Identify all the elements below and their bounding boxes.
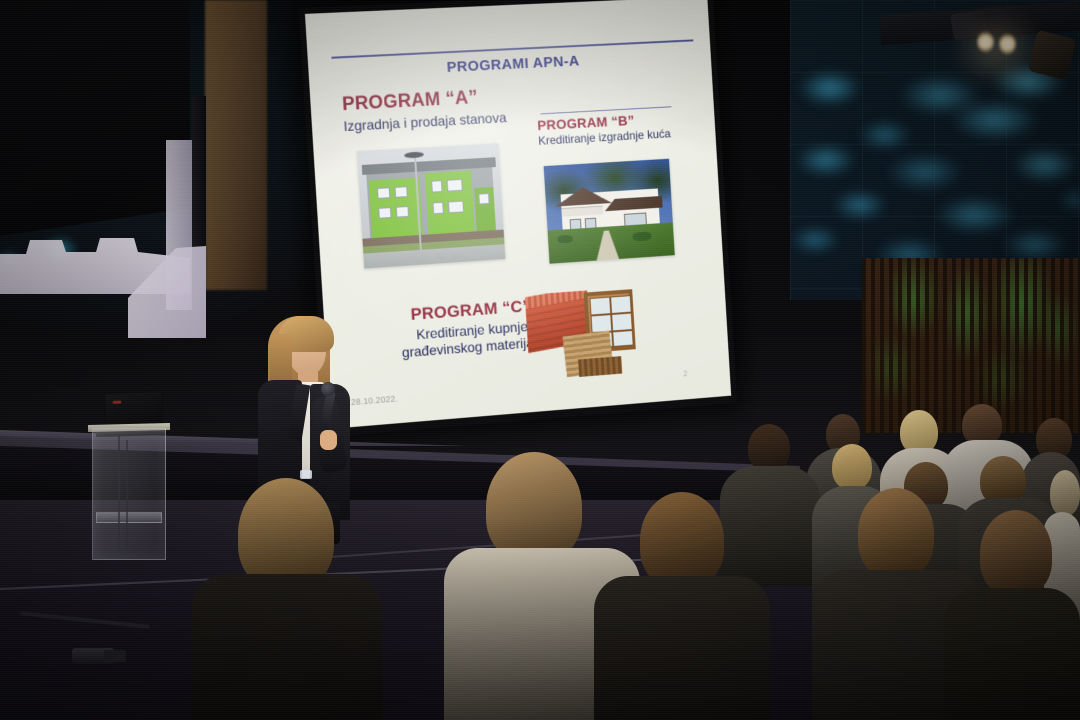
photo-window (447, 179, 463, 192)
program-block-b: PROGRAM “B” Kreditiranje izgradnje kuća (537, 110, 671, 148)
audience-head (858, 488, 934, 578)
audience-body (720, 466, 820, 586)
photo-window-pane (610, 295, 632, 314)
spotlight-icon (999, 33, 1016, 55)
audience-body (192, 574, 382, 720)
left-dark-screen (0, 0, 190, 236)
photo-window (396, 206, 409, 218)
cable (118, 436, 120, 548)
photo-window (377, 187, 390, 199)
presentation-slide: PROGRAMI APN-A PROGRAM “A” Izgradnja i p… (305, 0, 731, 429)
photo-window (433, 202, 444, 215)
photo-window (378, 207, 391, 219)
spotlight-icon (977, 31, 994, 53)
brick-window-lumber-photo (525, 287, 643, 385)
slide-title: PROGRAMI APN-A (308, 46, 711, 83)
conference-photo-scene: PROGRAMI APN-A PROGRAM “A” Izgradnja i p… (0, 0, 1080, 720)
photo-window (448, 201, 464, 214)
floor-equipment-box (104, 650, 126, 662)
audience-body (594, 576, 770, 720)
audience-head (1050, 470, 1080, 516)
audience-head (486, 452, 582, 562)
green-apartment-building-photo (357, 143, 505, 268)
laptop-logo-icon (113, 401, 122, 404)
microphone-head-icon (321, 382, 335, 396)
photo-window (395, 186, 408, 198)
audience-head (980, 510, 1052, 596)
audience-head (748, 424, 790, 472)
acrylic-lectern (92, 428, 166, 560)
cable (126, 440, 128, 548)
speaker-badge (300, 470, 312, 479)
photo-window-pane (590, 297, 612, 316)
photo-window-pane (612, 330, 633, 347)
audience-head (832, 444, 872, 490)
photo-window-pane (611, 313, 633, 332)
lectern-shelf (96, 512, 162, 523)
photo-window (478, 193, 489, 204)
spotlight-glow (950, 8, 1045, 88)
program-block-a: PROGRAM “A” Izgradnja i prodaja stanova (342, 86, 507, 134)
projection-screen: PROGRAMI APN-A PROGRAM “A” Izgradnja i p… (299, 0, 738, 437)
warm-lit-column (205, 0, 267, 290)
photo-window (431, 180, 442, 192)
audience-head (640, 492, 724, 588)
photo-lumber-stack (578, 356, 622, 377)
audience-body (944, 588, 1080, 720)
white-family-house-photo (544, 159, 675, 264)
slide-page-number: 2 (683, 369, 688, 378)
speaker-hand (320, 430, 337, 450)
